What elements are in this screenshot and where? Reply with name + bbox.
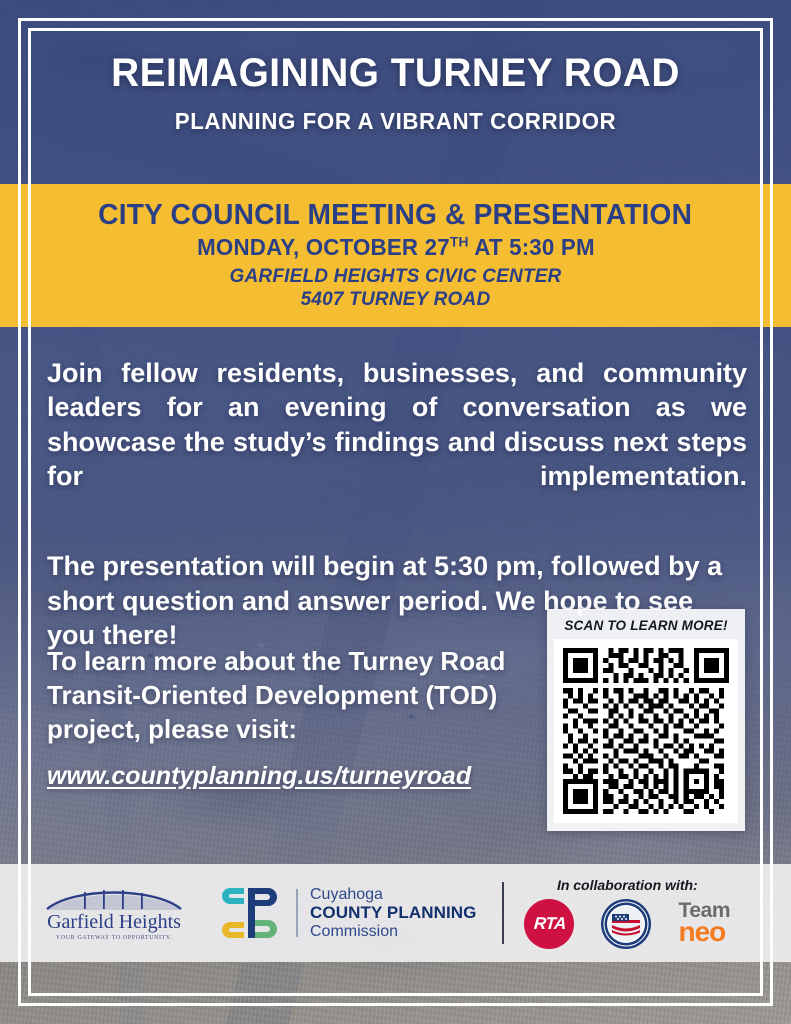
cpc-line-2: COUNTY PLANNING <box>310 903 476 922</box>
event-venue: GARFIELD HEIGHTS CIVIC CENTER <box>230 266 562 288</box>
event-details-band: CITY COUNCIL MEETING & PRESENTATION MOND… <box>0 184 791 327</box>
team-neo-logo: Team neo <box>678 902 730 944</box>
collaboration-section: In collaboration with: RTA <box>502 877 730 950</box>
event-date-ordinal: TH <box>449 234 468 250</box>
qr-code-label: SCAN TO LEARN MORE! <box>554 618 738 633</box>
rta-logo: RTA <box>524 899 574 949</box>
event-address: 5407 TURNEY ROAD <box>301 289 491 311</box>
team-neo-bottom: neo <box>678 920 730 944</box>
cpc-mark-icon <box>222 885 284 941</box>
page-subtitle: PLANNING FOR A VIBRANT CORRIDOR <box>12 108 779 135</box>
event-heading: CITY COUNCIL MEETING & PRESENTATION <box>99 200 693 232</box>
collaboration-label: In collaboration with: <box>524 877 730 893</box>
garfield-heights-name: Garfield Heights <box>44 912 184 932</box>
qr-code-card[interactable]: SCAN TO LEARN MORE! <box>547 609 745 831</box>
footer-logo-bar: Garfield Heights YOUR GATEWAY TO OPPORTU… <box>0 864 791 962</box>
collaboration-divider <box>502 882 504 944</box>
event-time: AT 5:30 PM <box>468 234 594 260</box>
event-date-prefix: MONDAY, OCTOBER 27 <box>197 234 450 260</box>
learn-more-block: To learn more about the Turney Road Tran… <box>47 645 517 791</box>
cpc-divider <box>296 889 298 937</box>
garfield-heights-tagline: YOUR GATEWAY TO OPPORTUNITY. <box>44 935 184 941</box>
event-datetime: MONDAY, OCTOBER 27TH AT 5:30 PM <box>197 235 595 260</box>
city-of-cleveland-seal-icon <box>600 898 652 950</box>
page-title: REIMAGINING TURNEY ROAD <box>12 52 779 94</box>
cpc-line-3: Commission <box>310 923 476 941</box>
qr-code-image[interactable] <box>554 639 738 823</box>
rta-label: RTA <box>533 914 566 934</box>
garfield-heights-logo: Garfield Heights YOUR GATEWAY TO OPPORTU… <box>0 864 184 962</box>
body-paragraph-1: Join fellow residents, businesses, and c… <box>47 356 747 527</box>
flyer-poster: REIMAGINING TURNEY ROAD PLANNING FOR A V… <box>0 0 791 1024</box>
project-website-link[interactable]: www.countyplanning.us/turneyroad <box>47 762 471 791</box>
cpc-line-1: Cuyahoga <box>310 886 476 904</box>
learn-more-text: To learn more about the Turney Road Tran… <box>47 645 517 746</box>
county-planning-logo: Cuyahoga COUNTY PLANNING Commission <box>222 885 476 941</box>
header: REIMAGINING TURNEY ROAD PLANNING FOR A V… <box>0 52 791 135</box>
bridge-icon <box>44 885 184 911</box>
